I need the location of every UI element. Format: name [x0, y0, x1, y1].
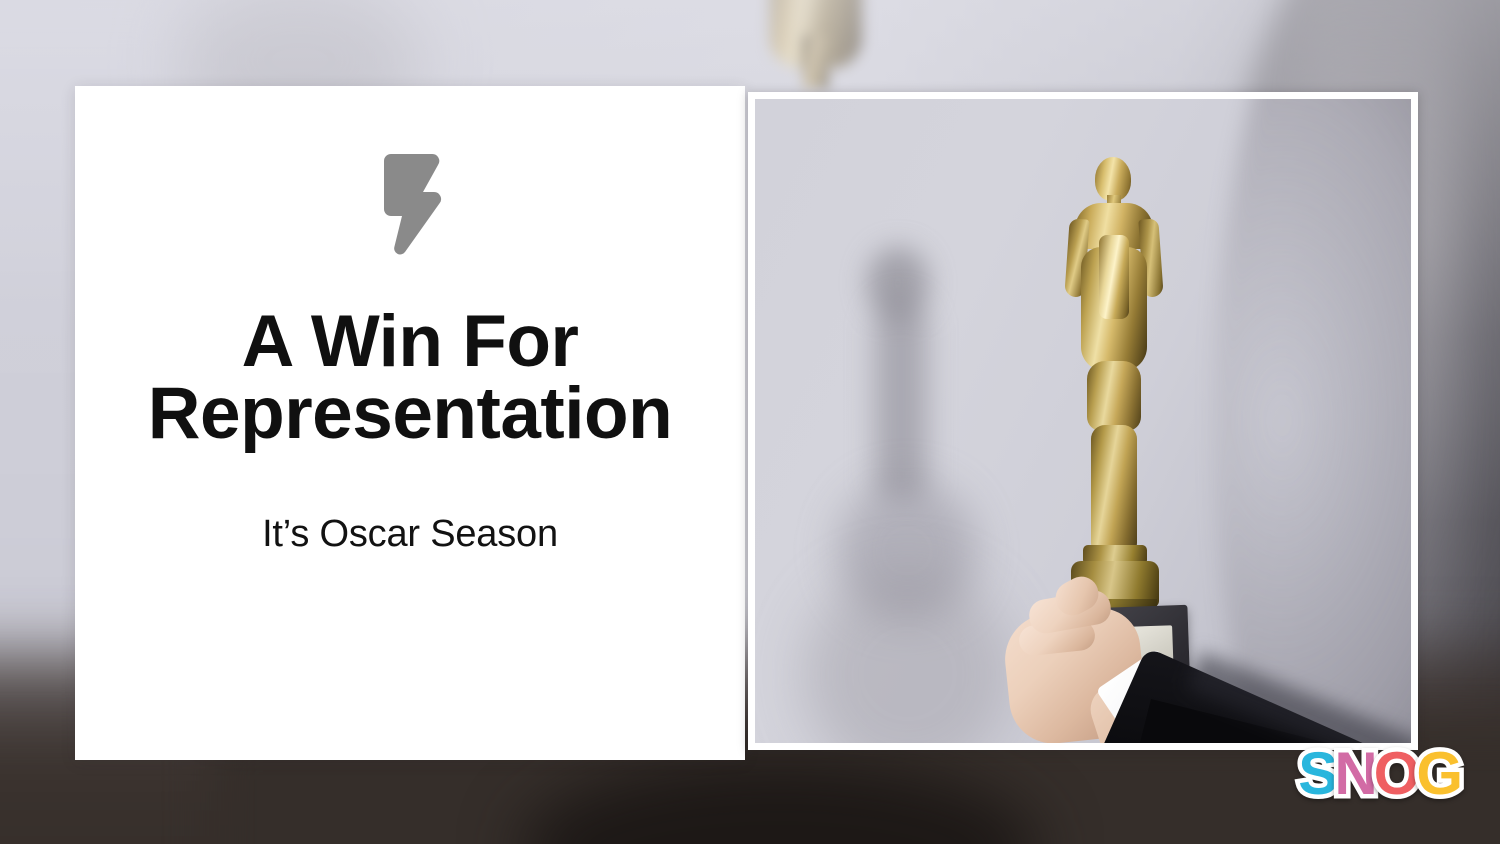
trophy-sword	[1099, 235, 1129, 319]
title-card: A Win For Representation It’s Oscar Seas…	[75, 86, 745, 760]
wall-shadow-body	[875, 299, 927, 499]
trophy-hips	[1087, 361, 1141, 431]
photo-right-rim-shadow	[1214, 99, 1411, 743]
photo-content	[755, 99, 1411, 743]
hero-photo	[748, 92, 1418, 750]
trophy-legs	[1091, 425, 1137, 553]
logo-letter-o: O	[1374, 744, 1420, 804]
subtitle: It’s Oscar Season	[262, 513, 558, 556]
logo-letter-s: S	[1298, 744, 1337, 804]
logo-letter-g: G	[1416, 744, 1462, 804]
lightning-bolt-icon	[374, 148, 446, 260]
snog-logo[interactable]: S N O G	[1298, 744, 1462, 804]
page-title: A Win For Representation	[75, 306, 745, 449]
logo-letter-n: N	[1334, 744, 1376, 804]
headline-line-1: A Win For	[75, 306, 745, 378]
headline-line-2: Representation	[75, 378, 745, 450]
